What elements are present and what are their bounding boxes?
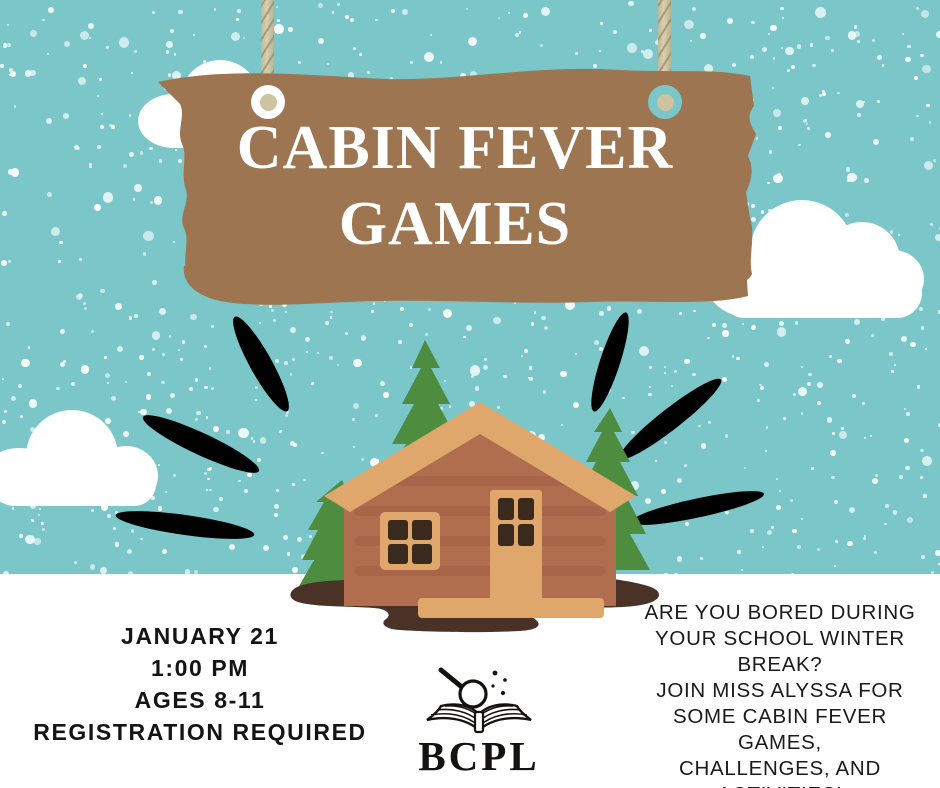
cabin-scene-svg	[280, 330, 680, 640]
event-date: JANUARY 21	[10, 620, 390, 652]
description-line-5: SOME CABIN FEVER GAMES,	[630, 704, 930, 756]
description-line-3: BREAK?	[630, 652, 930, 678]
eyelet-left	[251, 85, 285, 119]
magnifier-handle	[441, 670, 463, 688]
description-line-7: ACTIVITIES!	[630, 782, 930, 788]
event-ages: AGES 8-11	[10, 684, 390, 716]
magnifier-lens	[460, 681, 486, 707]
sign-title: CABIN FEVER GAMES	[150, 110, 760, 262]
cabin-step	[418, 598, 604, 618]
cabin-illustration	[280, 330, 680, 640]
cloud-left	[0, 400, 162, 510]
title-line-1: CABIN FEVER	[150, 110, 760, 186]
description-block: ARE YOU BORED DURING YOUR SCHOOL WINTER …	[630, 600, 930, 788]
poster-canvas: CABIN FEVER GAMES	[0, 0, 940, 788]
title-line-2: GAMES	[150, 186, 760, 262]
eyelet-right	[648, 85, 682, 119]
event-time: 1:00 PM	[10, 652, 390, 684]
description-line-1: ARE YOU BORED DURING	[630, 600, 930, 626]
description-line-4: JOIN MISS ALYSSA FOR	[630, 678, 930, 704]
bcpl-logo: BCPL	[404, 664, 554, 788]
book-left-page	[427, 704, 479, 730]
sparkle-icons	[491, 671, 506, 696]
book-right-page	[479, 704, 531, 730]
description-line-2: YOUR SCHOOL WINTER	[630, 626, 930, 652]
event-registration: REGISTRATION REQUIRED	[10, 716, 390, 748]
event-details-block: JANUARY 21 1:00 PM AGES 8-11 REGISTRATIO…	[10, 620, 390, 748]
cabin-door	[490, 490, 542, 606]
open-book-icon	[417, 664, 541, 738]
book-spine	[475, 712, 483, 732]
description-line-6: CHALLENGES, AND	[630, 756, 930, 782]
bcpl-wordmark: BCPL	[404, 736, 554, 776]
